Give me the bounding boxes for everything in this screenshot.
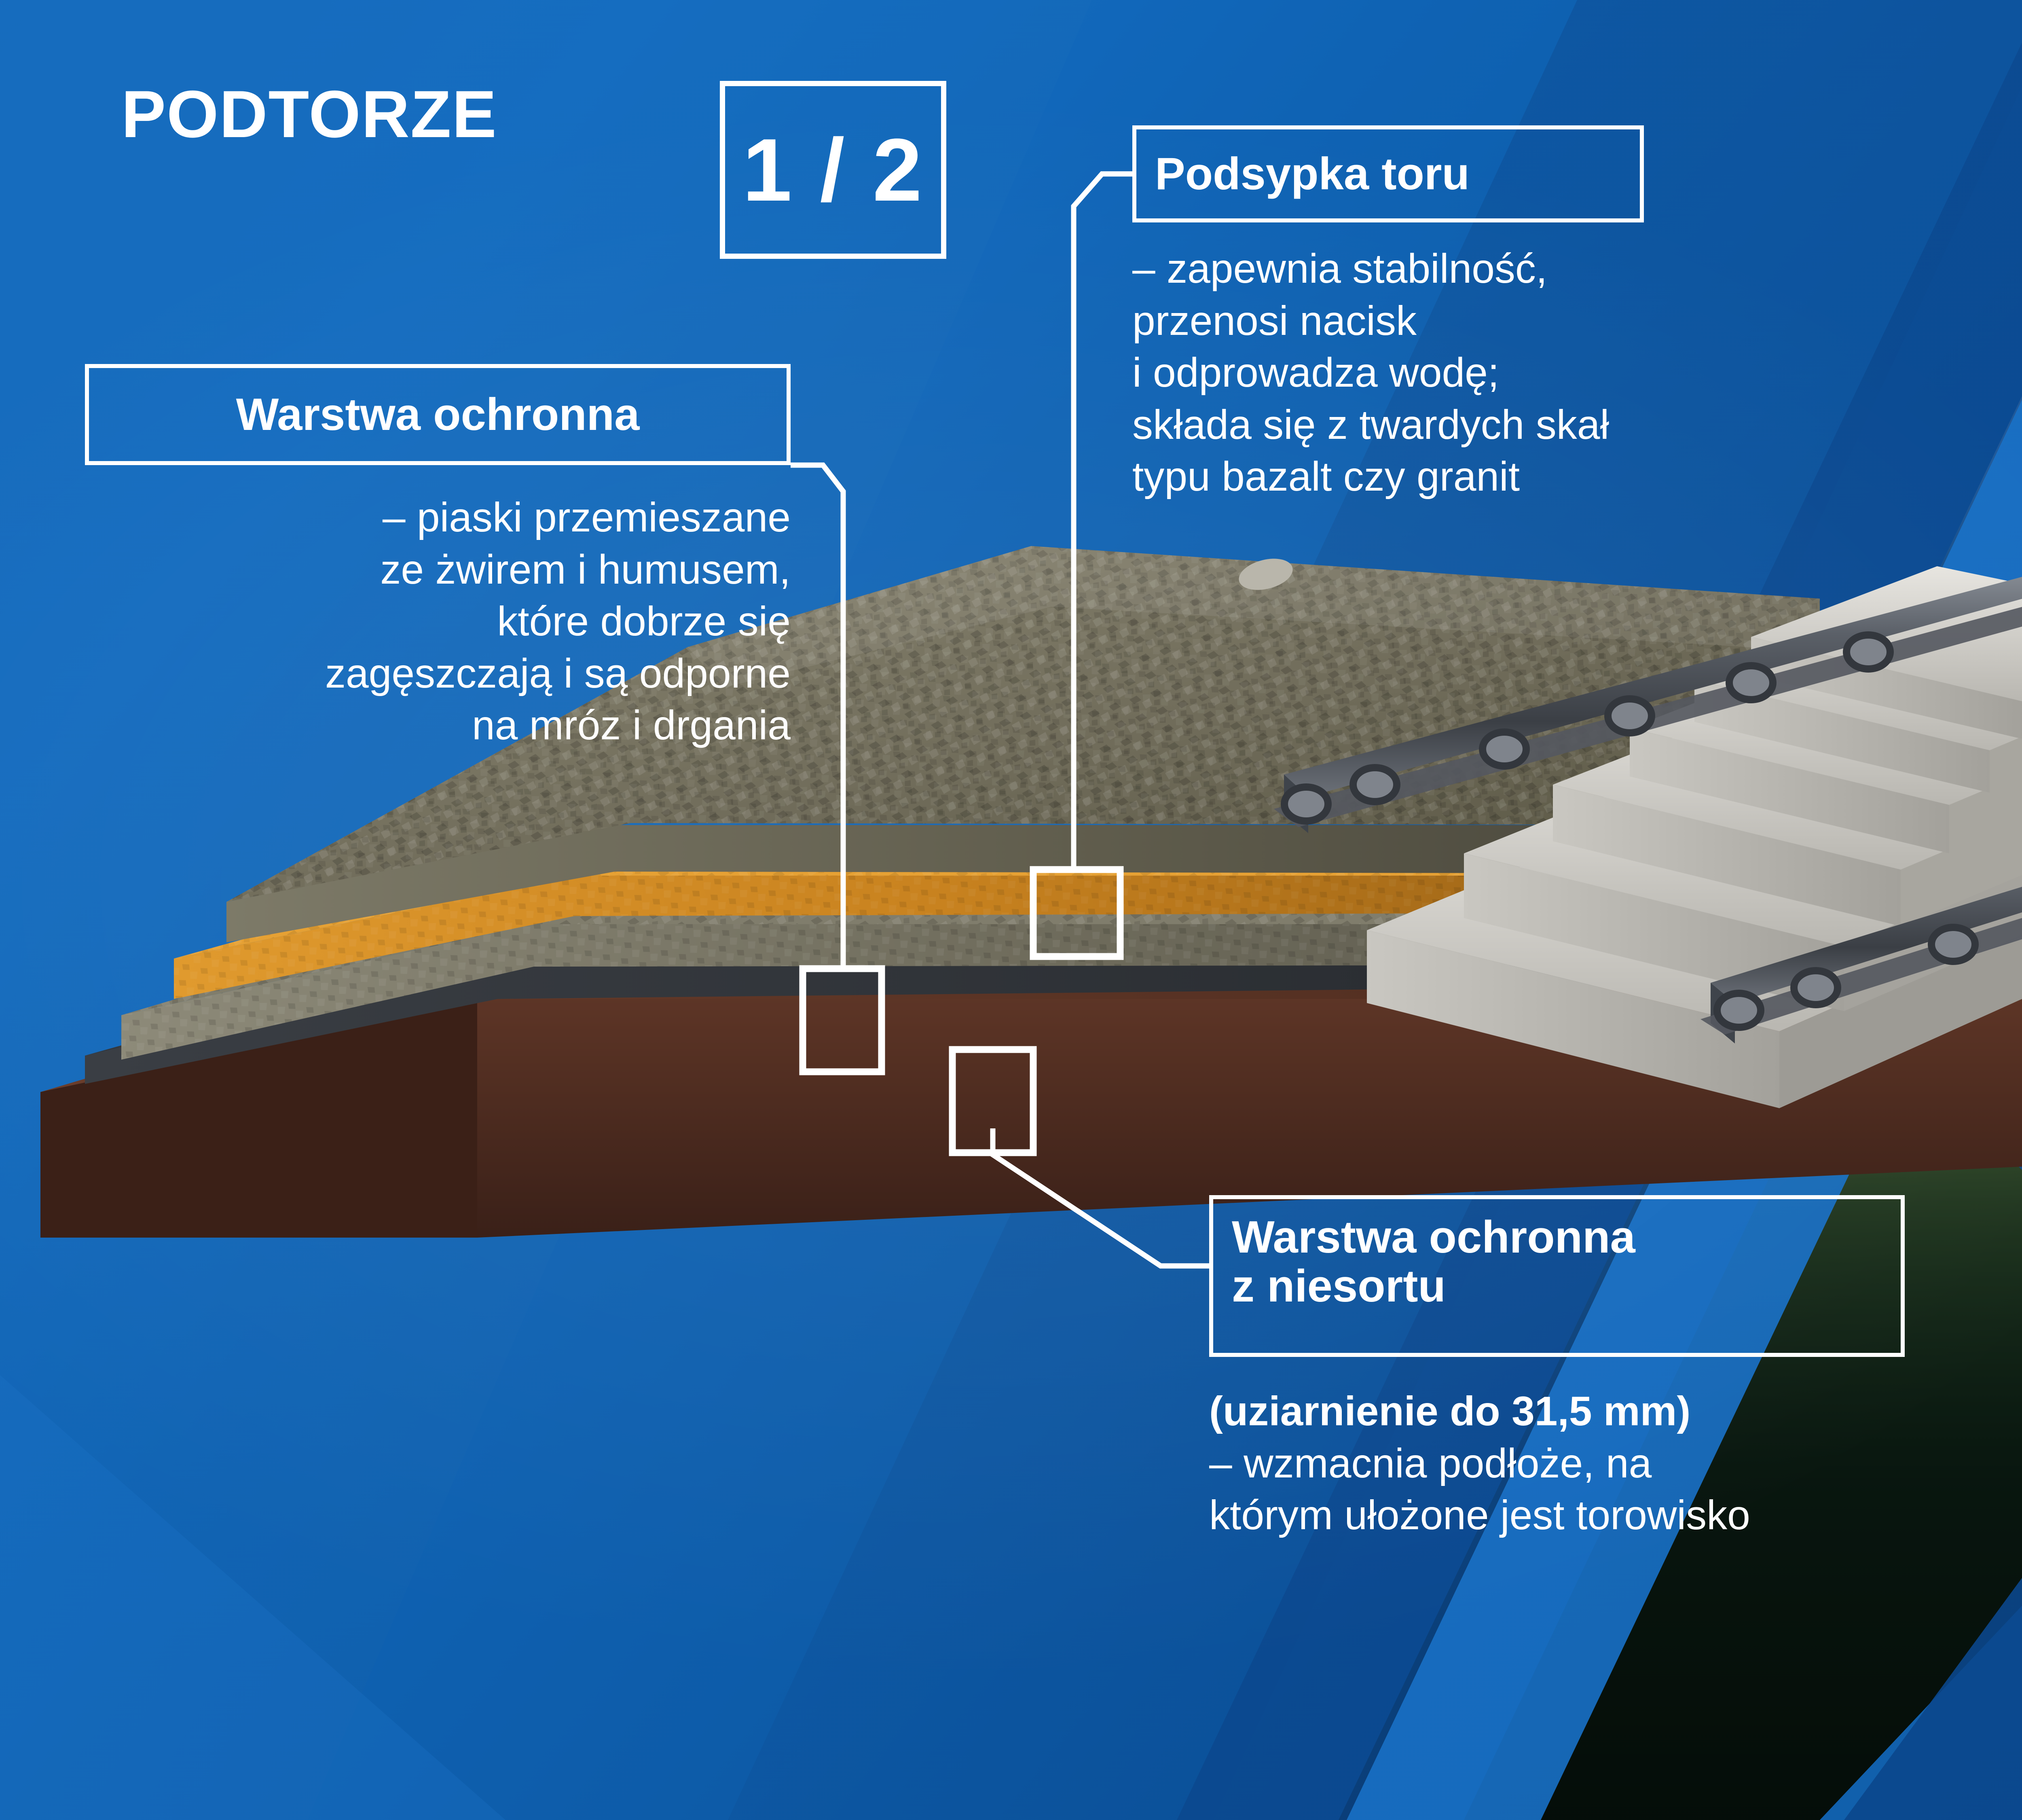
marker-box-ballast [1033,870,1120,957]
callout-body-warstwa-ochronna: – piaski przemieszane ze żwirem i humuse… [85,491,791,751]
callout-heading-niesort: Warstwa ochronna z niesortu [1209,1195,1905,1357]
callout-body-niesort: (uziarnienie do 31,5 mm) – wzmacnia podł… [1209,1385,2022,1541]
callout-body-podsypka-toru: – zapewnia stabilność, przenosi nacisk i… [1132,243,1982,503]
page-title: PODTORZE [121,81,497,148]
leader-line-niesort [993,1128,1209,1266]
marker-box-sand [803,969,882,1072]
infographic-canvas: PODTORZE 1 / 2 Warstwa ochronna – piaski… [0,0,2022,1820]
callout-heading-podsypka-toru: Podsypka toru [1132,125,1644,222]
callout-body-niesort-bold: (uziarnienie do 31,5 mm) [1209,1385,2022,1437]
page-number-badge: 1 / 2 [720,81,946,259]
callout-heading-warstwa-ochronna: Warstwa ochronna [85,364,791,465]
callout-body-niesort-text: – wzmacnia podłoże, na którym ułożone je… [1209,1440,1750,1539]
leader-line-warstwa-ochronna [791,465,843,969]
leader-line-podsypka-toru [1074,174,1132,870]
